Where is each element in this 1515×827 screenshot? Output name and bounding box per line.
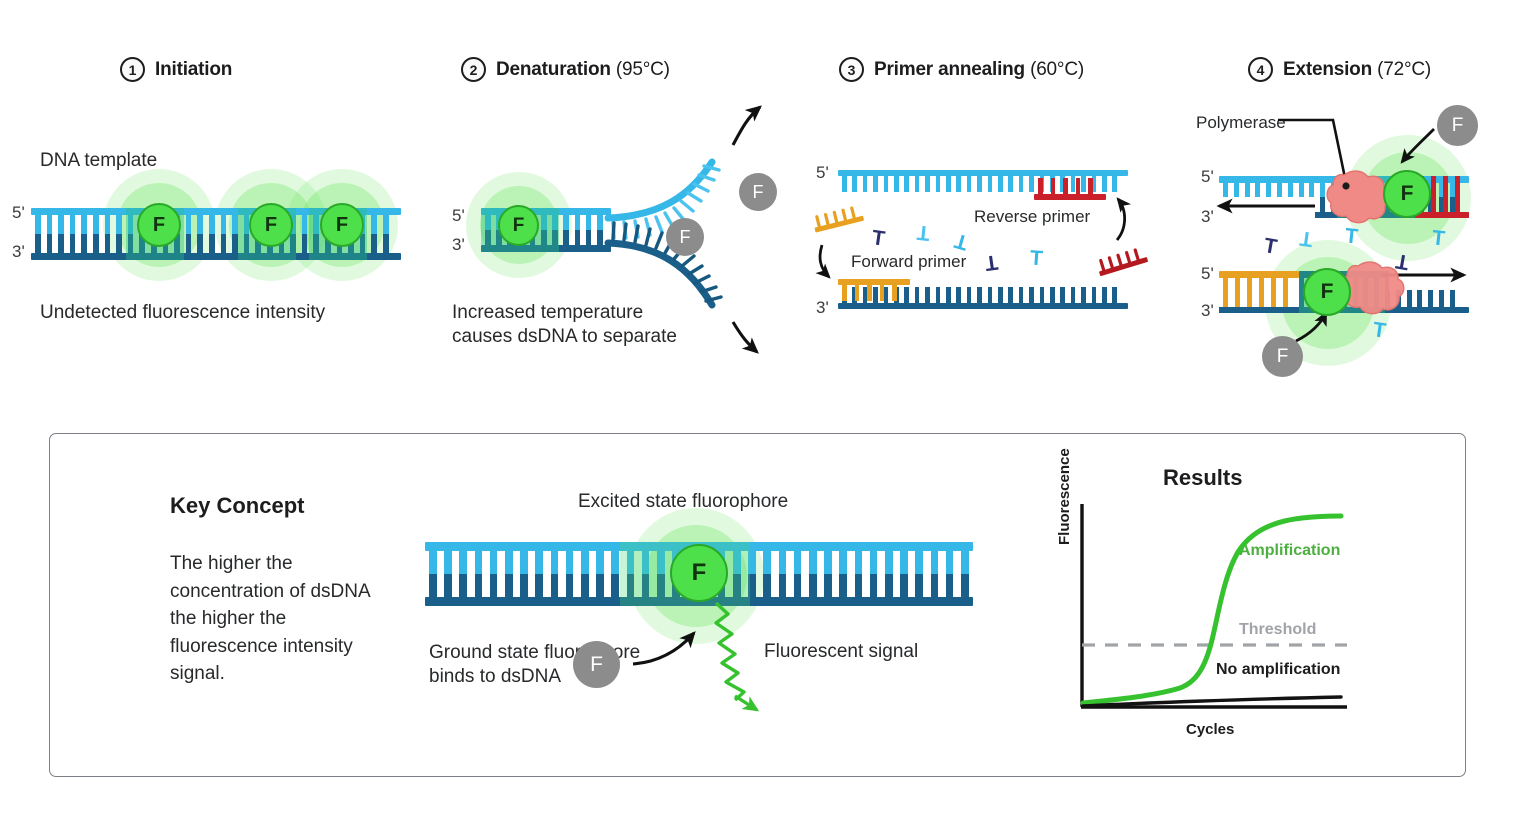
dna-rung-upper (998, 176, 1003, 192)
dna-rung-lower (900, 574, 908, 597)
dna-rung-lower (371, 234, 377, 253)
free-nucleotide-icon: T (1344, 225, 1359, 247)
dna-rung-lower (988, 287, 993, 303)
dna-rung-upper (1008, 176, 1013, 192)
ground-state-fluorophore-disc: F (666, 218, 704, 256)
dna-rung-upper (490, 551, 498, 574)
dna-rung-upper (1019, 176, 1024, 192)
dna-rung-upper (763, 551, 771, 574)
ground-state-fluorophore-disc: F (1437, 105, 1478, 146)
dna-rung-upper (855, 285, 860, 301)
dna-rung-lower (1063, 178, 1068, 194)
dna-rung-upper (1288, 183, 1293, 198)
step-number-4: 4 (1248, 57, 1273, 82)
ground-state-fluorophore-disc-card: F (573, 641, 620, 688)
dna-rung-upper (1299, 183, 1304, 198)
dna-rung-upper (1331, 183, 1336, 198)
dna-rung-upper (852, 176, 857, 192)
dna-rung-lower (1038, 178, 1043, 194)
dna-backbone-bottom (1034, 194, 1106, 200)
step-temp-2: (95°C) (616, 59, 670, 80)
step-title-4: Extension (72°C) (1283, 59, 1431, 81)
dna-rung-lower (566, 574, 574, 597)
step-header-2: 2 Denaturation (95°C) (461, 57, 670, 82)
dna-rung-lower (1076, 178, 1081, 194)
dna-rung-upper (575, 215, 581, 230)
dna-rung-upper (892, 285, 897, 301)
dna-rung-lower (1431, 176, 1436, 212)
dna-rung-upper (809, 551, 817, 574)
dna-rung-upper (936, 176, 941, 192)
template-rung-region (1219, 278, 1299, 290)
dna-rung-lower (967, 287, 972, 303)
step-number-2: 2 (461, 57, 486, 82)
step-number-1: 1 (120, 57, 145, 82)
dna-backbone-bottom (1219, 307, 1299, 314)
dna-rung-lower (596, 574, 604, 597)
fluorophore-binding-arrow-bottom (1296, 313, 1326, 341)
dna-rung-lower (977, 287, 982, 303)
chart-y-axis-label: Fluorescence (1056, 448, 1073, 545)
dna-rung-upper (209, 215, 215, 234)
dna-rung-upper (302, 215, 308, 234)
panel4-three-prime-bottom: 3' (1201, 301, 1214, 321)
fluorophore-disc: F (498, 205, 539, 246)
dna-rung-lower (763, 574, 771, 597)
dna-rung-lower (81, 234, 87, 253)
dna-rung-upper (535, 551, 543, 574)
panel4-three-prime-top: 3' (1201, 207, 1214, 227)
dna-rung-lower (1450, 292, 1455, 307)
step-header-3: 3 Primer annealing (60°C) (839, 57, 1084, 82)
dna-rung-upper (93, 215, 99, 234)
dna-rung-lower (885, 574, 893, 597)
dna-rung-upper (459, 551, 467, 574)
separation-arrow-down (733, 322, 757, 352)
step-title-text-4: Extension (1283, 59, 1372, 80)
dna-rung-lower (1443, 176, 1448, 212)
dna-rung-upper (863, 176, 868, 192)
dna-rung-upper (873, 176, 878, 192)
dsdna-top-complex-panel4 (1219, 176, 1469, 218)
step-title-2: Denaturation (95°C) (496, 59, 670, 81)
chart-annotation-threshold: Threshold (1239, 621, 1316, 639)
dna-rung-upper (915, 551, 923, 574)
dna-rung-lower (221, 234, 227, 253)
dna-rung-lower (459, 574, 467, 597)
dna-rung-lower (209, 234, 215, 253)
dna-rung-lower (1051, 178, 1056, 194)
dna-rung-upper (81, 215, 87, 234)
dna-rung-upper (977, 176, 982, 192)
dna-rung-upper (946, 551, 954, 574)
fluorophore-binding-arrow-top (1402, 129, 1434, 162)
dna-rung-upper (925, 176, 930, 192)
dna-rung-lower (1092, 287, 1097, 303)
dna-rung-upper (47, 215, 53, 234)
dna-rung-upper (1277, 183, 1282, 198)
dna-rung-upper (1223, 183, 1228, 198)
step-temp-4: (72°C) (1377, 59, 1431, 80)
dna-rung-lower (551, 574, 559, 597)
dna-rung-lower (1081, 287, 1086, 303)
dna-rung-lower (581, 574, 589, 597)
free-nucleotide-icon: T (1262, 235, 1278, 258)
dna-rung-upper (58, 215, 64, 234)
dna-rung-lower (1029, 287, 1034, 303)
dna-rung-upper (915, 176, 920, 192)
dna-rung-upper (505, 551, 513, 574)
dna-rung-upper (956, 176, 961, 192)
polymerase-leader-line (1278, 120, 1345, 178)
reverse-primer-bound (1034, 178, 1106, 200)
dna-rung-lower (563, 230, 569, 245)
step-header-4: 4 Extension (72°C) (1248, 57, 1431, 82)
dna-rung-upper (611, 551, 619, 574)
dna-rung-upper (35, 215, 41, 234)
dna-rung-lower (444, 574, 452, 597)
dna-rung-lower (70, 234, 76, 253)
forward-primer-label: Forward primer (851, 252, 966, 272)
dna-rung-upper (581, 551, 589, 574)
dna-rung-upper (880, 285, 885, 301)
dna-rung-upper (885, 551, 893, 574)
dna-rung-upper (1266, 183, 1271, 198)
dna-rung-lower (105, 234, 111, 253)
dna-rung-lower (870, 574, 878, 597)
dna-rung-upper (70, 215, 76, 234)
forward-primer-binding-arrow (820, 245, 829, 277)
dna-rung-upper (779, 551, 787, 574)
panel4-five-prime-bottom: 5' (1201, 264, 1214, 284)
dna-rung-lower (93, 234, 99, 253)
dna-rung-lower (961, 574, 969, 597)
dna-rung-upper (839, 551, 847, 574)
dna-rung-upper (1245, 183, 1250, 198)
dna-rung-lower (505, 574, 513, 597)
dna-rung-lower (58, 234, 64, 253)
dna-rung-lower (520, 574, 528, 597)
step-header-1: 1 Initiation (120, 57, 232, 82)
dna-rung-lower (794, 574, 802, 597)
fluorophore-disc-card: F (670, 544, 728, 602)
dna-rung-upper (894, 176, 899, 192)
reverse-primer-binding-arrow (1117, 199, 1125, 240)
dna-rung-upper (383, 215, 389, 234)
dna-rung-lower (586, 230, 592, 245)
dna-rung-lower (232, 234, 238, 253)
dna-rung-lower (1320, 197, 1325, 212)
panel2-caption-line2: causes dsDNA to separate (452, 326, 677, 347)
free-nucleotide-icon: T (871, 227, 887, 250)
panel1-five-prime: 5' (12, 203, 25, 223)
dna-rung-lower (779, 574, 787, 597)
dna-rung-lower (998, 287, 1003, 303)
dna-rung-lower (915, 287, 920, 303)
dna-rung-upper (551, 551, 559, 574)
dna-rung-lower (575, 230, 581, 245)
fluorophore-disc: F (137, 203, 181, 247)
dna-rung-lower (1417, 292, 1422, 307)
dna-rung-upper (197, 215, 203, 234)
panel2-caption-line1: Increased temperature (452, 302, 643, 323)
free-nucleotide-icon: T (916, 221, 931, 243)
panel4-five-prime-top: 5' (1201, 167, 1214, 187)
free-reverse-primer (1096, 247, 1148, 276)
ground-state-fluorophore-disc: F (739, 173, 777, 211)
dna-rung-upper (475, 551, 483, 574)
step-number-3: 3 (839, 57, 864, 82)
dna-rung-upper (596, 551, 604, 574)
dna-rung-lower (1050, 287, 1055, 303)
dna-rung-upper (931, 551, 939, 574)
dna-rung-lower (946, 574, 954, 597)
excited-state-label: Excited state fluorophore (578, 491, 788, 513)
dna-rung-lower (186, 234, 192, 253)
dna-rung-upper (870, 551, 878, 574)
separation-arrow-up (733, 107, 760, 145)
reverse-primer-label: Reverse primer (974, 207, 1090, 227)
panel2-caption: Increased temperature causes dsDNA to se… (452, 301, 712, 350)
step-title-text-2: Denaturation (496, 59, 611, 80)
fluorophore-disc: F (249, 203, 293, 247)
free-nucleotide-icon: T (1299, 227, 1315, 250)
dna-rung-lower (490, 574, 498, 597)
dna-rung-lower (1088, 178, 1093, 194)
results-title: Results (1163, 465, 1242, 491)
dna-rung-lower (824, 574, 832, 597)
dna-rung-upper (1255, 183, 1260, 198)
fluorophore-disc: F (1303, 268, 1351, 316)
dna-rung-lower (925, 287, 930, 303)
dna-rung-upper (221, 215, 227, 234)
dna-rung-upper (1309, 183, 1314, 198)
dna-backbone-bottom (1415, 212, 1469, 219)
dna-rung-lower (1439, 292, 1444, 307)
dna-backbone-top (838, 279, 910, 285)
denatured-strand-lower (608, 223, 721, 305)
dna-rung-upper (371, 215, 377, 234)
dna-rung-lower (1331, 197, 1336, 212)
panel3-three-prime: 3' (816, 298, 829, 318)
dna-rung-lower (1040, 287, 1045, 303)
dna-rung-lower (383, 234, 389, 253)
dna-rung-upper (1320, 183, 1325, 198)
fluorophore-disc: F (1383, 170, 1431, 218)
dna-rung-upper (444, 551, 452, 574)
free-forward-primer (812, 206, 864, 233)
chart-x-axis-label: Cycles (1186, 721, 1234, 738)
free-nucleotide-icon: T (1394, 250, 1410, 273)
dna-rung-lower (936, 287, 941, 303)
free-nucleotide-icon: T (1431, 227, 1446, 249)
step-title-text-1: Initiation (155, 59, 232, 80)
free-nucleotide-icon: T (1029, 248, 1043, 270)
dna-rung-upper (586, 215, 592, 230)
dna-rung-upper (1112, 176, 1117, 192)
dna-rung-upper (967, 176, 972, 192)
dna-rung-upper (855, 551, 863, 574)
ground-state-fluorophore-disc: F (1262, 336, 1303, 377)
free-nucleotide-icon: T (984, 251, 1000, 274)
dna-rung-upper (520, 551, 528, 574)
step-title-3: Primer annealing (60°C) (874, 59, 1084, 81)
dna-rung-lower (197, 234, 203, 253)
dna-rung-upper (566, 551, 574, 574)
dna-rung-lower (1455, 176, 1460, 212)
dna-rung-lower (597, 230, 603, 245)
dna-rung-upper (904, 176, 909, 192)
dna-rung-lower (35, 234, 41, 253)
unsynthesised-region (1389, 271, 1469, 290)
denatured-strand-upper (608, 162, 719, 238)
dna-rung-lower (946, 287, 951, 303)
panel3-five-prime: 5' (816, 163, 829, 183)
free-nucleotide-icon: T (952, 230, 970, 254)
dna-rung-lower (1008, 287, 1013, 303)
dna-rung-upper (824, 551, 832, 574)
dna-rung-upper (563, 215, 569, 230)
dna-rung-lower (302, 234, 308, 253)
dna-rung-lower (915, 574, 923, 597)
dna-rung-lower (1112, 287, 1117, 303)
polymerase-label: Polymerase (1196, 113, 1286, 133)
dna-rung-upper (961, 551, 969, 574)
unsynthesised-region (1219, 197, 1315, 218)
dna-rung-upper (946, 176, 951, 192)
dna-rung-lower (809, 574, 817, 597)
panel2-three-prime: 3' (452, 235, 465, 255)
forward-primer-bound (838, 279, 910, 301)
dna-rung-lower (47, 234, 53, 253)
dna-rung-lower (1019, 287, 1024, 303)
dna-template-label: DNA template (40, 150, 157, 172)
dna-rung-upper (186, 215, 192, 234)
dna-rung-lower (535, 574, 543, 597)
dna-rung-lower (1385, 292, 1390, 307)
dna-rung-upper (988, 176, 993, 192)
panel2-five-prime: 5' (452, 206, 465, 226)
key-concept-body: The higher the concentration of dsDNA th… (170, 550, 370, 688)
dna-backbone-bottom (838, 303, 1128, 309)
dna-rung-upper (1234, 183, 1239, 198)
free-nucleotide-icon: T (1372, 319, 1388, 342)
dna-rung-upper (116, 215, 122, 234)
dna-rung-lower (611, 574, 619, 597)
panel1-three-prime: 3' (12, 242, 25, 262)
dna-rung-upper (597, 215, 603, 230)
dna-rung-lower (855, 574, 863, 597)
dna-rung-lower (956, 287, 961, 303)
step-temp-3: (60°C) (1030, 59, 1084, 80)
dna-rung-lower (429, 574, 437, 597)
step-title-text-3: Primer annealing (874, 59, 1025, 80)
dna-rung-lower (1102, 287, 1107, 303)
step-title-1: Initiation (155, 59, 232, 81)
dna-rung-lower (1071, 287, 1076, 303)
key-concept-title: Key Concept (170, 493, 304, 519)
dna-rung-upper (842, 176, 847, 192)
dna-rung-upper (900, 551, 908, 574)
dna-rung-lower (1428, 292, 1433, 307)
diagram-canvas: 1 Initiation 2 Denaturation (95°C) 3 Pri… (0, 0, 1515, 827)
fluorescent-signal-label: Fluorescent signal (764, 641, 918, 663)
chart-annotation-no-amplification: No amplification (1216, 661, 1340, 679)
dna-rung-lower (116, 234, 122, 253)
dna-rung-lower (1407, 292, 1412, 307)
dna-rung-lower (839, 574, 847, 597)
dna-rung-lower (475, 574, 483, 597)
fluorophore-disc: F (320, 203, 364, 247)
dna-rung-upper (842, 285, 847, 301)
dna-rung-upper (232, 215, 238, 234)
dna-rung-lower (931, 574, 939, 597)
panel1-caption: Undetected fluorescence intensity (40, 302, 325, 324)
dna-rung-upper (884, 176, 889, 192)
dna-rung-upper (105, 215, 111, 234)
dna-rung-upper (794, 551, 802, 574)
dna-rung-lower (1396, 292, 1401, 307)
dna-rung-upper (867, 285, 872, 301)
chart-annotation-amplification: Amplification (1239, 542, 1340, 560)
dna-rung-lower (1060, 287, 1065, 303)
dna-rung-upper (429, 551, 437, 574)
